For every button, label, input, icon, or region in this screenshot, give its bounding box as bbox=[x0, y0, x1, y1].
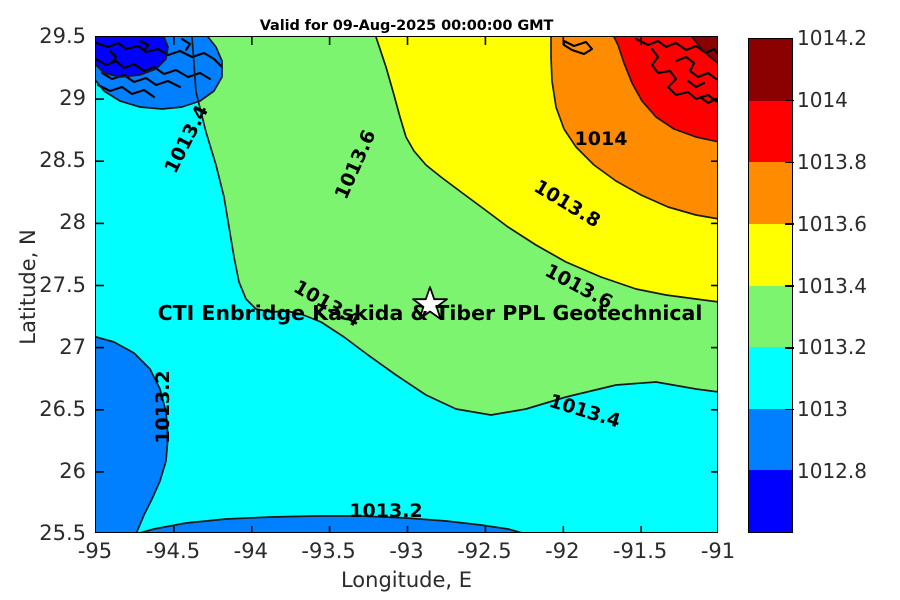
x-axis-ticks: -95 -94.5 -94 -93.5 -93 -92.5 -92 -91.5 … bbox=[95, 539, 718, 569]
colorbar-band-1013.6 bbox=[749, 224, 792, 286]
colorbar-band-1014.0 bbox=[749, 101, 792, 163]
contour-label-7: 1013.2 bbox=[152, 370, 174, 443]
colorbar-tick-2: 1013.8 bbox=[797, 150, 867, 174]
y-tick-6: 26.5 bbox=[39, 397, 86, 421]
colorbar-tick-labels: 1014.2 1014 1013.8 1013.6 1013.4 1013.2 … bbox=[797, 38, 897, 533]
y-tick-7: 26 bbox=[59, 459, 86, 483]
site-annotation-label: CTI Enbridge Kaskida & Tiber PPL Geotech… bbox=[158, 301, 703, 325]
colorbar-tick-4: 1013.4 bbox=[797, 274, 867, 298]
contour-label-8: 1013.2 bbox=[349, 500, 422, 522]
colorbar-band-1012.8 bbox=[749, 470, 792, 532]
colorbar-tick-6: 1013 bbox=[797, 397, 848, 421]
x-tick-6: -92 bbox=[545, 539, 579, 563]
x-tick-0: -95 bbox=[78, 539, 112, 563]
x-tick-1: -94.5 bbox=[146, 539, 200, 563]
colorbar-tick-5: 1013.2 bbox=[797, 335, 867, 359]
colorbar-band-1013.4 bbox=[749, 286, 792, 348]
colorbar-tick-0: 1014.2 bbox=[797, 26, 867, 50]
x-tick-2: -94 bbox=[234, 539, 268, 563]
y-tick-1: 29 bbox=[59, 86, 86, 110]
y-tick-2: 28.5 bbox=[39, 148, 86, 172]
x-axis-label: Longitude, E bbox=[95, 568, 718, 592]
x-tick-7: -91.5 bbox=[613, 539, 667, 563]
colorbar-tickmark-1013.4 bbox=[785, 285, 794, 287]
colorbar-band-1013.2 bbox=[749, 347, 792, 409]
y-tick-0: 29.5 bbox=[39, 24, 86, 48]
y-axis-ticks: 29.5 29 28.5 28 27.5 27 26.5 26 25.5 bbox=[0, 36, 86, 533]
colorbar-tickmark-1013.8 bbox=[785, 162, 794, 164]
y-tick-4: 27.5 bbox=[39, 273, 86, 297]
colorbar-tick-3: 1013.6 bbox=[797, 212, 867, 236]
contour-map-svg: 1013.4 1013.6 1014 1013.8 1013.4 1013.6 … bbox=[96, 37, 718, 533]
y-axis-label: Latitude, N bbox=[16, 167, 40, 407]
y-tick-3: 28 bbox=[59, 210, 86, 234]
y-tick-5: 27 bbox=[59, 335, 86, 359]
colorbar-tickmark-1013 bbox=[785, 409, 794, 411]
contour-label-2: 1014 bbox=[575, 128, 628, 150]
colorbar-tick-7: 1012.8 bbox=[797, 459, 867, 483]
x-tick-4: -93 bbox=[389, 539, 423, 563]
colorbar-band-1014.2 bbox=[749, 39, 792, 101]
colorbar-band-1013.0 bbox=[749, 409, 792, 471]
figure-root: Valid for 09-Aug-2025 00:00:00 GMT 29.5 … bbox=[0, 0, 900, 600]
colorbar-tick-1: 1014 bbox=[797, 88, 848, 112]
x-tick-8: -91 bbox=[701, 539, 735, 563]
colorbar-tickmark-1013.2 bbox=[785, 347, 794, 349]
colorbar-tickmark-1014 bbox=[785, 100, 794, 102]
page-title: Valid for 09-Aug-2025 00:00:00 GMT bbox=[95, 18, 718, 34]
x-tick-3: -93.5 bbox=[301, 539, 355, 563]
colorbar-tickmark-1013.6 bbox=[785, 223, 794, 225]
colorbar-band-1013.8 bbox=[749, 162, 792, 224]
contour-plot-area: 1013.4 1013.6 1014 1013.8 1013.4 1013.6 … bbox=[95, 36, 718, 533]
x-tick-5: -92.5 bbox=[457, 539, 511, 563]
